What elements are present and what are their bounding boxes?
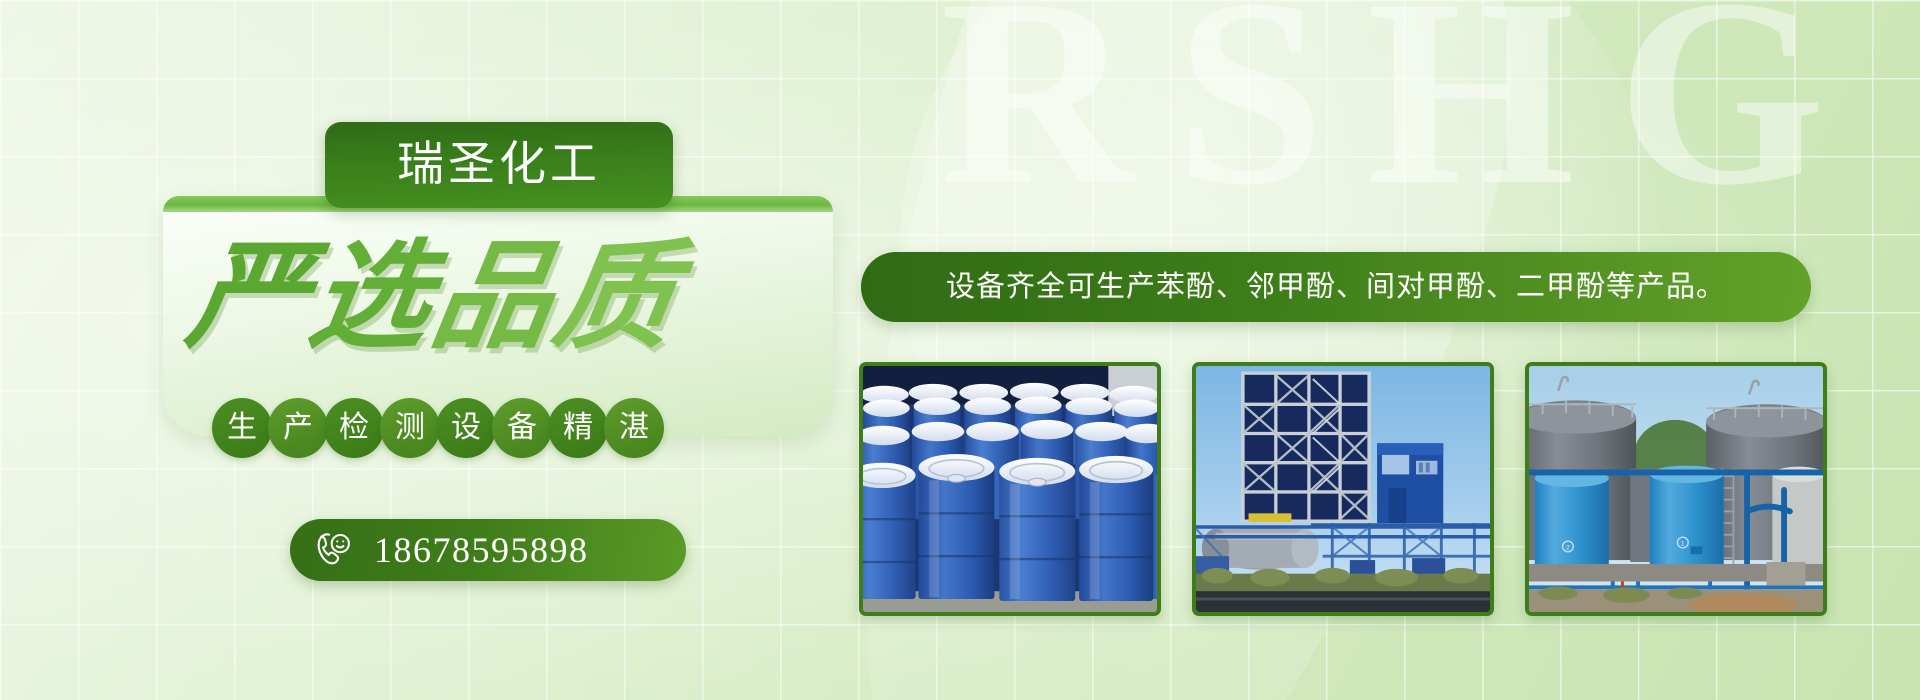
feature-badges-row: 生 产 检 测 设 备 精 湛 [212, 398, 660, 458]
headline-char-1: 严 [181, 238, 318, 356]
feature-badge: 检 [324, 398, 384, 458]
brand-badge-label: 瑞圣化工 [397, 140, 601, 190]
right-content-column: 设备齐全可生产苯酚、邻甲酚、间对甲酚、二甲酚等产品。 [880, 0, 1920, 700]
promo-banner: RSHG 瑞圣化工 严 选 品 质 生 产 检 测 设 备 精 湛 [0, 0, 1920, 700]
storage-tank-farm-photo[interactable]: 2 1 [1525, 362, 1827, 616]
feature-badge: 产 [268, 398, 328, 458]
phone-smile-icon [314, 530, 354, 570]
description-text: 设备齐全可生产苯酚、邻甲酚、间对甲酚、二甲酚等产品。 [946, 273, 1726, 302]
phone-number-text: 18678595898 [374, 532, 589, 568]
left-content-column: 瑞圣化工 严 选 品 质 生 产 检 测 设 备 精 湛 [0, 0, 880, 700]
feature-badge: 精 [548, 398, 608, 458]
description-banner: 设备齐全可生产苯酚、邻甲酚、间对甲酚、二甲酚等产品。 [861, 252, 1811, 322]
feature-badge: 备 [492, 398, 552, 458]
svg-text:1: 1 [1681, 540, 1685, 547]
blue-chemical-drums-photo[interactable] [859, 362, 1161, 616]
headline-char-2: 选 [303, 238, 440, 356]
feature-badge: 设 [436, 398, 496, 458]
feature-badge: 湛 [604, 398, 664, 458]
headline-char-4: 质 [547, 238, 684, 356]
feature-badge: 生 [212, 398, 272, 458]
phone-cta-button[interactable]: 18678595898 [290, 519, 686, 581]
headline-char-3: 品 [425, 238, 562, 356]
svg-text:2: 2 [1566, 544, 1570, 551]
product-gallery: 2 1 [859, 362, 1827, 616]
chemical-plant-tower-photo[interactable] [1192, 362, 1494, 616]
brand-badge: 瑞圣化工 [325, 122, 673, 208]
headline: 严 选 品 质 [190, 228, 820, 356]
feature-badge: 测 [380, 398, 440, 458]
